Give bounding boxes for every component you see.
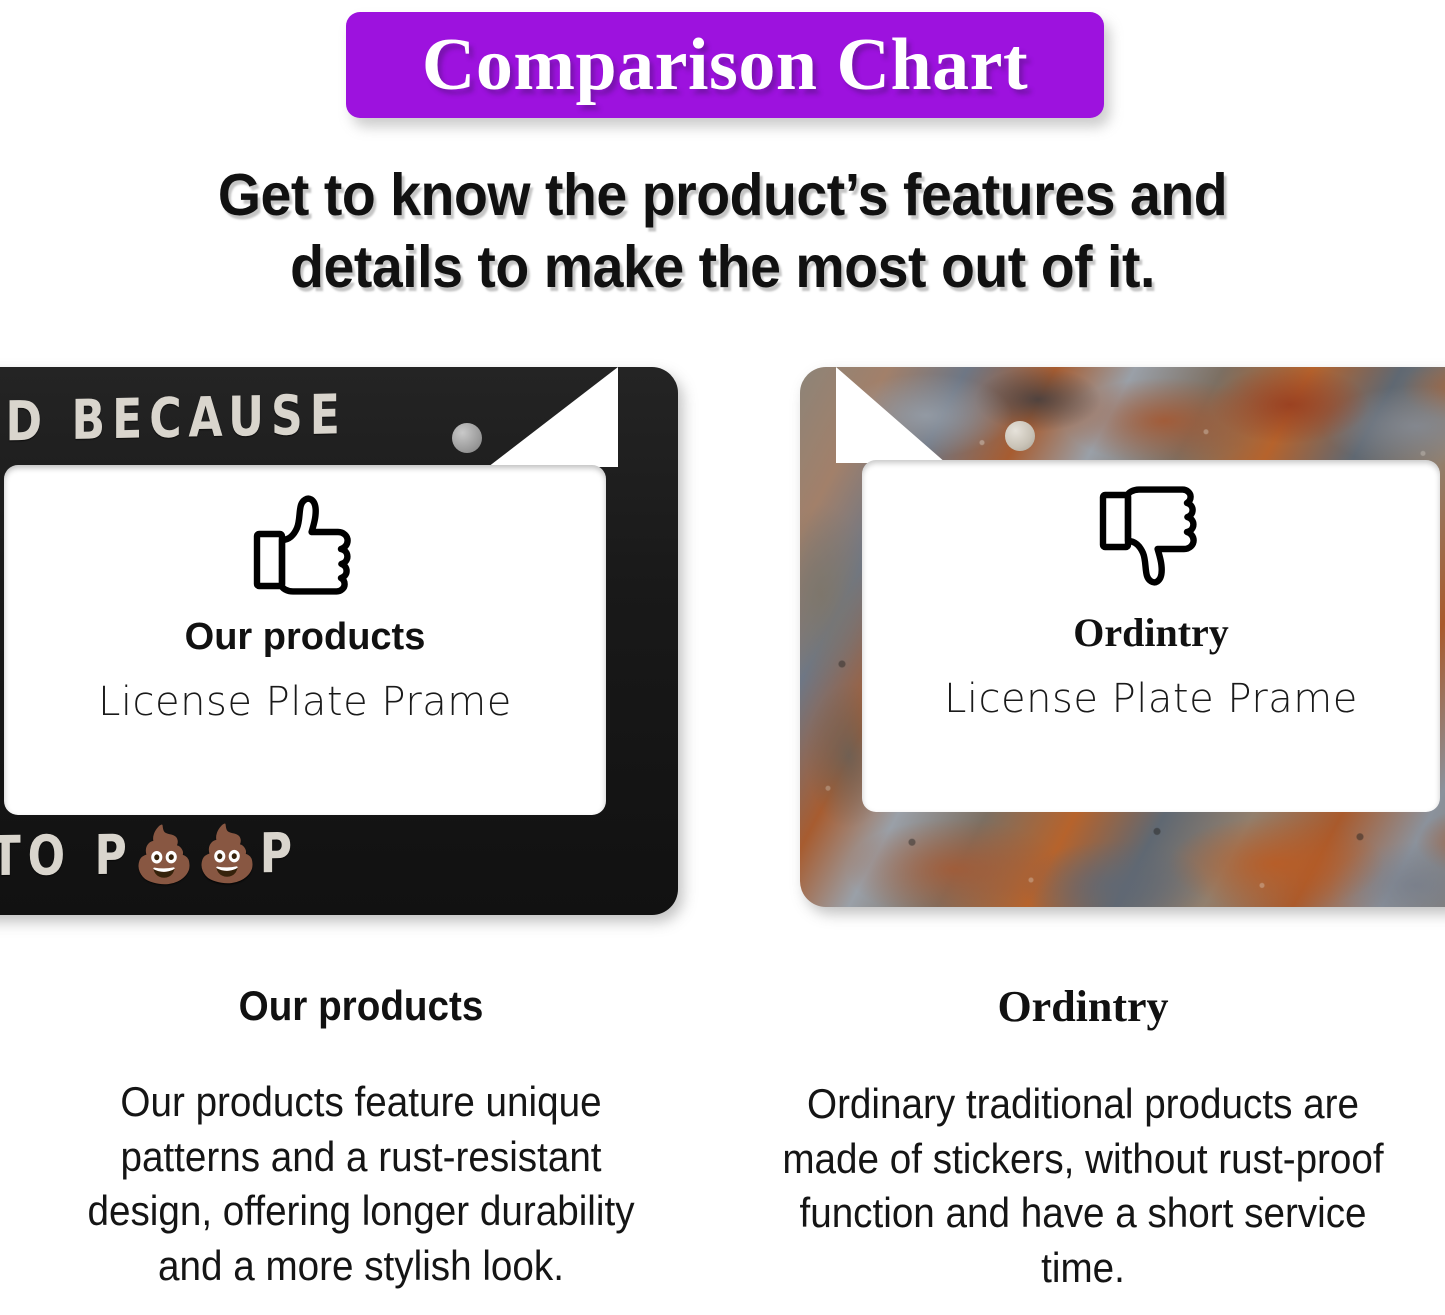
screw-hole bbox=[452, 423, 482, 453]
our-product-window: Our products License Plate Prame bbox=[4, 465, 606, 815]
our-product-heading: Our products bbox=[185, 618, 426, 656]
ordinary-product-heading: Ordintry bbox=[1073, 613, 1229, 653]
ordinary-product-description-column: Ordintry Ordinary traditional products a… bbox=[722, 985, 1444, 1315]
our-product-description-body: Our products feature unique patterns and… bbox=[57, 1075, 664, 1293]
ordinary-product-window: Ordintry License Plate Prame bbox=[862, 460, 1440, 812]
description-row: Our products Our products feature unique… bbox=[0, 985, 1445, 1315]
frame-corner-notch bbox=[488, 367, 618, 467]
ordinary-product-description-body: Ordinary traditional products are made o… bbox=[779, 1077, 1386, 1295]
screw-hole bbox=[1005, 421, 1035, 451]
product-showcase: PEED BECAUSE VE TO P💩💩P Our products Lic… bbox=[0, 362, 1445, 922]
subtitle-line-1: Get to know the product’s features and bbox=[43, 160, 1401, 232]
frame-corner-notch bbox=[836, 367, 946, 463]
thumbs-down-icon bbox=[1093, 482, 1209, 599]
our-product-description-heading: Our products bbox=[239, 985, 484, 1027]
frame-deco-text-bottom: VE TO P💩💩P bbox=[0, 821, 299, 889]
ordinary-product-frame: Ordintry License Plate Prame bbox=[800, 367, 1445, 907]
thumbs-up-icon bbox=[247, 487, 363, 604]
our-product-frame: PEED BECAUSE VE TO P💩💩P Our products Lic… bbox=[0, 367, 678, 915]
our-product-subheading: License Plate Prame bbox=[98, 682, 512, 722]
our-product-description-column: Our products Our products feature unique… bbox=[0, 985, 722, 1315]
page-title: Comparison Chart bbox=[422, 28, 1028, 102]
subtitle: Get to know the product’s features and d… bbox=[43, 160, 1401, 304]
header-zone: Comparison Chart Get to know the product… bbox=[0, 0, 1445, 330]
subtitle-line-2: details to make the most out of it. bbox=[43, 232, 1401, 304]
title-banner: Comparison Chart bbox=[346, 12, 1104, 118]
ordinary-product-subheading: License Plate Prame bbox=[944, 679, 1358, 719]
ordinary-product-description-heading: Ordintry bbox=[997, 985, 1168, 1029]
frame-deco-text-top: PEED BECAUSE bbox=[0, 383, 347, 456]
